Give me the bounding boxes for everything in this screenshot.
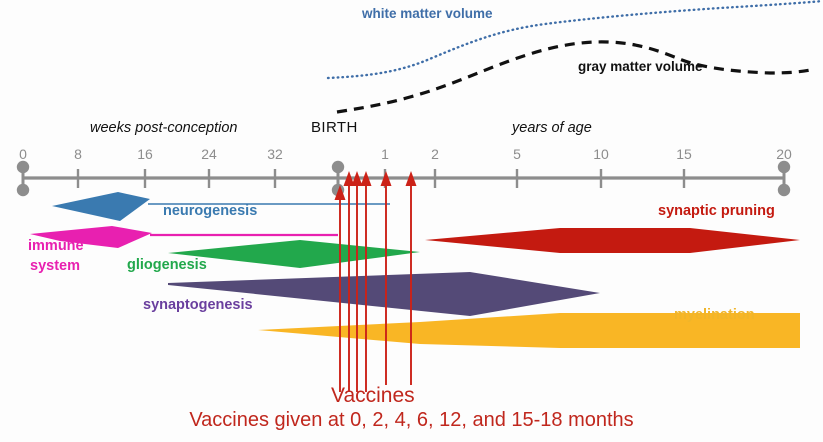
vaccine-arrow-4-months: [352, 171, 363, 392]
vaccine-arrows-layer: [0, 0, 823, 442]
vaccines-title: Vaccines: [331, 384, 415, 408]
vaccine-arrow-2-months: [344, 171, 355, 392]
vaccine-arrow-12-months: [381, 171, 392, 385]
figure-canvas: white matter volume gray matter volume w…: [0, 0, 823, 442]
vaccines-caption: Vaccines given at 0, 2, 4, 6, 12, and 15…: [0, 409, 823, 432]
vaccine-arrow-15-18-months: [406, 171, 417, 385]
vaccine-arrow-6-months: [361, 171, 372, 392]
vaccine-arrow-0-months: [335, 185, 346, 392]
